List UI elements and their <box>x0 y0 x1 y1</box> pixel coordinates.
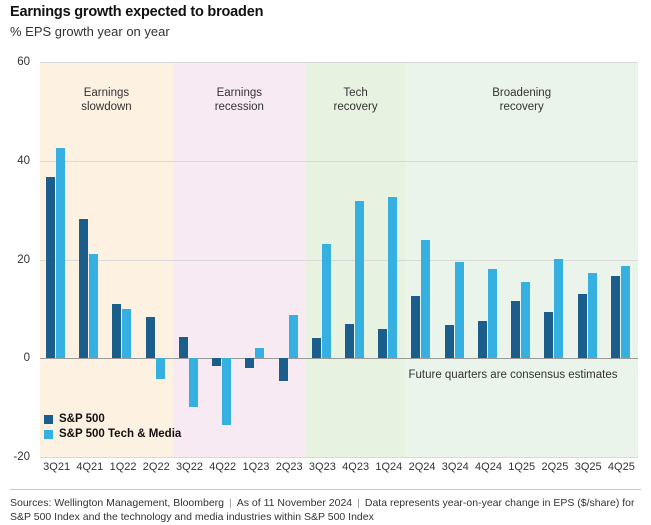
footer-note: Sources: Wellington Management, Bloomber… <box>10 489 641 524</box>
bar-group-3Q25 <box>572 62 605 457</box>
bar-1Q25-series-1 <box>521 282 530 358</box>
bar-4Q22-series-0 <box>212 358 221 365</box>
bar-3Q22-series-1 <box>189 358 198 406</box>
bar-group-1Q24 <box>372 62 405 457</box>
bar-group-4Q22 <box>206 62 239 457</box>
x-tick-3Q24: 3Q24 <box>442 461 469 473</box>
bar-2Q24-series-0 <box>411 296 420 359</box>
chart-page: Earnings growth expected to broaden % EP… <box>0 0 651 525</box>
bar-2Q22-series-1 <box>156 358 165 379</box>
x-tick-2Q25: 2Q25 <box>541 461 568 473</box>
bar-2Q23-series-1 <box>289 315 298 358</box>
bar-group-4Q23 <box>339 62 372 457</box>
bar-series-container <box>40 62 638 457</box>
bar-4Q21-series-0 <box>79 219 88 358</box>
x-tick-3Q22: 3Q22 <box>176 461 203 473</box>
bar-group-2Q22 <box>140 62 173 457</box>
y-tick-0: 0 <box>0 352 30 364</box>
bar-4Q24-series-0 <box>478 321 487 358</box>
legend-swatch-tech-media <box>44 430 53 439</box>
x-tick-2Q22: 2Q22 <box>143 461 170 473</box>
x-tick-1Q23: 1Q23 <box>242 461 269 473</box>
bar-3Q25-series-0 <box>578 294 587 358</box>
bar-group-1Q25 <box>505 62 538 457</box>
x-axis-labels: 3Q214Q211Q222Q223Q224Q221Q232Q233Q234Q23… <box>40 461 638 477</box>
footer-sources: Sources: Wellington Management, Bloomber… <box>10 497 224 509</box>
bar-4Q21-series-1 <box>89 254 98 358</box>
legend-label-tech-media: S&P 500 Tech & Media <box>59 428 181 440</box>
bar-3Q25-series-1 <box>588 273 597 358</box>
y-tick-40: 40 <box>0 155 30 167</box>
x-tick-4Q24: 4Q24 <box>475 461 502 473</box>
bar-1Q22-series-0 <box>112 304 121 358</box>
bar-4Q25-series-1 <box>621 266 630 358</box>
x-tick-1Q24: 1Q24 <box>375 461 402 473</box>
bar-2Q22-series-0 <box>146 317 155 358</box>
bar-group-1Q22 <box>106 62 139 457</box>
bar-group-2Q24 <box>405 62 438 457</box>
bar-2Q25-series-1 <box>554 259 563 359</box>
bar-group-3Q21 <box>40 62 73 457</box>
x-tick-4Q22: 4Q22 <box>209 461 236 473</box>
x-tick-4Q25: 4Q25 <box>608 461 635 473</box>
legend-item-0: S&P 500 <box>44 413 181 425</box>
x-tick-1Q25: 1Q25 <box>508 461 535 473</box>
legend-item-1: S&P 500 Tech & Media <box>44 428 181 440</box>
bar-group-2Q23 <box>273 62 306 457</box>
x-tick-3Q23: 3Q23 <box>309 461 336 473</box>
bar-3Q24-series-1 <box>455 262 464 358</box>
bar-4Q23-series-1 <box>355 201 364 359</box>
x-tick-2Q24: 2Q24 <box>409 461 436 473</box>
footer-asof: As of 11 November 2024 <box>237 497 352 509</box>
legend-swatch-sp500 <box>44 415 53 424</box>
bar-3Q23-series-1 <box>322 244 331 359</box>
bar-1Q23-series-1 <box>255 348 264 358</box>
legend-label-sp500: S&P 500 <box>59 413 105 425</box>
bar-3Q21-series-0 <box>46 177 55 359</box>
gridline--20 <box>40 457 638 458</box>
x-tick-2Q23: 2Q23 <box>276 461 303 473</box>
x-tick-3Q25: 3Q25 <box>575 461 602 473</box>
bar-group-1Q23 <box>239 62 272 457</box>
bar-2Q24-series-1 <box>421 240 430 358</box>
bar-4Q25-series-0 <box>611 276 620 358</box>
legend: S&P 500 S&P 500 Tech & Media <box>44 413 181 443</box>
y-tick--20: -20 <box>0 451 30 463</box>
page-title: Earnings growth expected to broaden <box>10 4 263 20</box>
bar-2Q25-series-0 <box>544 312 553 358</box>
bar-group-2Q25 <box>538 62 571 457</box>
footer-sep-1: | <box>224 497 237 509</box>
x-tick-1Q22: 1Q22 <box>110 461 137 473</box>
bar-1Q25-series-0 <box>511 301 520 358</box>
x-tick-4Q21: 4Q21 <box>76 461 103 473</box>
bar-1Q23-series-0 <box>245 358 254 368</box>
y-tick-20: 20 <box>0 254 30 266</box>
bar-1Q24-series-0 <box>378 329 387 359</box>
bar-3Q21-series-1 <box>56 148 65 358</box>
bar-group-4Q24 <box>472 62 505 457</box>
plot-area: EarningsslowdownEarningsrecessionTechrec… <box>40 62 638 457</box>
y-axis-labels: -200204060 <box>0 62 36 457</box>
bar-3Q22-series-0 <box>179 337 188 358</box>
bar-2Q23-series-0 <box>279 358 288 381</box>
bar-group-4Q25 <box>605 62 638 457</box>
bar-4Q22-series-1 <box>222 358 231 425</box>
x-tick-3Q21: 3Q21 <box>43 461 70 473</box>
y-tick-60: 60 <box>0 56 30 68</box>
bar-4Q24-series-1 <box>488 269 497 358</box>
chart-annotation: Future quarters are consensus estimates <box>408 368 618 382</box>
page-subtitle: % EPS growth year on year <box>10 24 170 39</box>
bar-1Q22-series-1 <box>122 309 131 358</box>
bar-1Q24-series-1 <box>388 197 397 358</box>
bar-group-4Q21 <box>73 62 106 457</box>
bar-group-3Q23 <box>306 62 339 457</box>
bar-group-3Q22 <box>173 62 206 457</box>
x-tick-4Q23: 4Q23 <box>342 461 369 473</box>
bar-4Q23-series-0 <box>345 324 354 359</box>
bar-group-3Q24 <box>439 62 472 457</box>
bar-3Q24-series-0 <box>445 325 454 358</box>
bar-3Q23-series-0 <box>312 338 321 359</box>
footer-sep-2: | <box>352 497 365 509</box>
